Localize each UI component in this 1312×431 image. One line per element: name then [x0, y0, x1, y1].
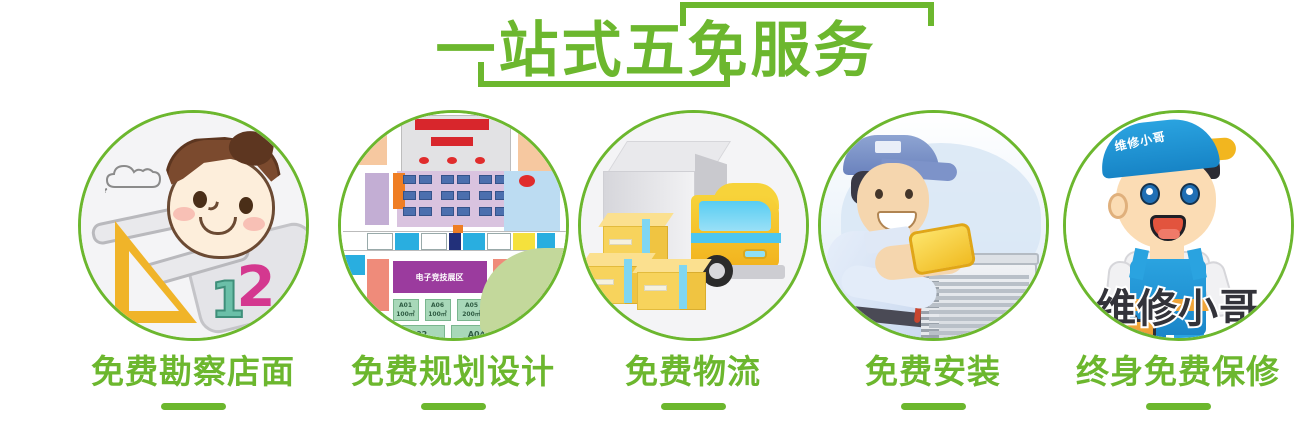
service-item-planning[interactable]: 电子竞技展区 A01100㎡ A06100㎡ A05200㎡ A02400 ㎡ …: [328, 100, 578, 431]
zone-label: 电子竞技展区: [393, 261, 487, 293]
label-underline-logistics: [661, 403, 726, 410]
label-underline-planning: [421, 403, 486, 410]
service-item-warranty[interactable]: 维修小哥 维修小哥 终身免费保修: [1053, 100, 1303, 431]
service-icon-circle-planning: 电子竞技展区 A01100㎡ A06100㎡ A05200㎡ A02400 ㎡ …: [338, 110, 569, 341]
service-label-planning: 免费规划设计: [328, 352, 578, 392]
delivery-truck-icon: [581, 113, 806, 338]
service-item-installation[interactable]: 免费安装: [808, 100, 1058, 431]
page-title: 一站式五免服务: [0, 18, 1312, 84]
service-item-survey[interactable]: 1 2 免费勘察店面: [68, 100, 318, 431]
label-underline-survey: [161, 403, 226, 410]
service-icon-circle-survey: 1 2: [78, 110, 309, 341]
label-underline-warranty: [1146, 403, 1211, 410]
promo-banner: 一站式五免服务: [0, 0, 1312, 431]
mascot-logo-text: 维修小哥: [1066, 276, 1291, 334]
service-icon-circle-warranty: 维修小哥 维修小哥: [1063, 110, 1294, 341]
service-label-logistics: 免费物流: [568, 352, 818, 392]
package-box: [637, 259, 707, 313]
service-label-installation: 免费安装: [808, 352, 1058, 392]
cloud-icon: [105, 165, 167, 193]
banner-header: 一站式五免服务: [0, 0, 1312, 100]
service-label-survey: 免费勘察店面: [68, 352, 318, 392]
label-underline-installation: [901, 403, 966, 410]
service-icon-circle-installation: [818, 110, 1049, 341]
exhibition-floor-plan-icon: 电子竞技展区 A01100㎡ A06100㎡ A05200㎡ A02400 ㎡ …: [341, 113, 566, 338]
repairman-mascot-icon: 维修小哥 维修小哥: [1066, 113, 1291, 338]
service-icon-circle-logistics: [578, 110, 809, 341]
service-item-logistics[interactable]: 免费物流: [568, 100, 818, 431]
boy-with-triangle-ruler-icon: 1 2: [81, 113, 306, 338]
number-two-glyph: 2: [237, 255, 276, 320]
service-list: 1 2 免费勘察店面: [0, 100, 1312, 431]
technician-installing-ac-icon: [821, 113, 1046, 338]
service-label-warranty: 终身免费保修: [1053, 352, 1303, 392]
